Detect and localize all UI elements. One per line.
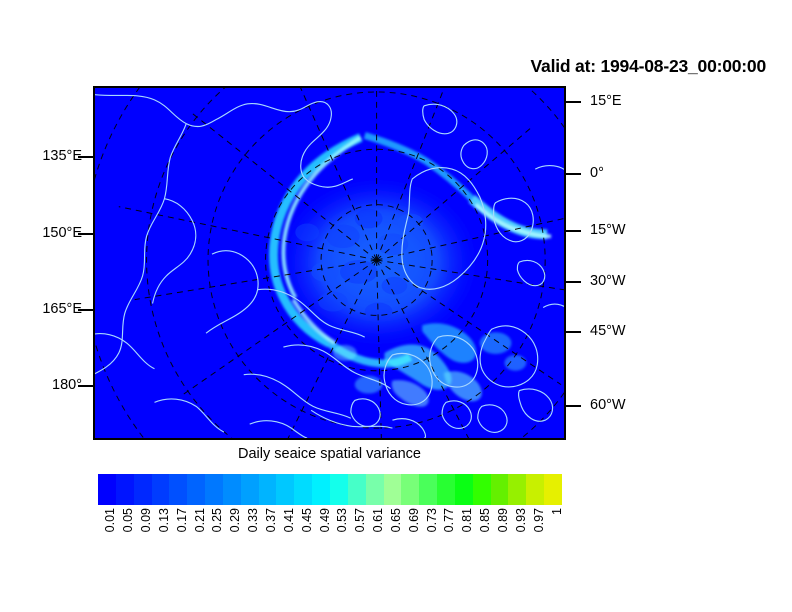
- left-axis-label-2: 165°E: [0, 302, 82, 317]
- map-canvas: [95, 88, 564, 438]
- colorbar-tick-label: 0.85: [478, 508, 492, 532]
- colorbar-tick-label: 0.97: [532, 508, 546, 532]
- colorbar-segment: [491, 474, 509, 505]
- right-axis-tick-1: [566, 173, 581, 175]
- colorbar-strip: [98, 474, 562, 505]
- left-axis-tick-3: [78, 385, 93, 387]
- colorbar-segment: [259, 474, 277, 505]
- colorbar-tick-label: 0.41: [282, 508, 296, 532]
- colorbar-labels: 0.010.050.090.130.170.210.250.290.330.37…: [98, 508, 562, 564]
- left-axis-label-3: 180°: [0, 378, 82, 393]
- colorbar-tick-label: 0.25: [210, 508, 224, 532]
- colorbar-segment: [544, 474, 562, 505]
- left-axis-label-1: 150°E: [0, 226, 82, 241]
- colorbar-tick-label: 0.49: [318, 508, 332, 532]
- colorbar-tick-label: 1: [550, 508, 564, 515]
- colorbar-tick-label: 0.29: [228, 508, 242, 532]
- colorbar-segment: [152, 474, 170, 505]
- colorbar-tick-label: 0.53: [335, 508, 349, 532]
- colorbar-tick-label: 0.61: [371, 508, 385, 532]
- colorbar-segment: [223, 474, 241, 505]
- right-axis-label-1: 0°: [590, 166, 604, 181]
- colorbar-tick-label: 0.13: [157, 508, 171, 532]
- colorbar-segment: [526, 474, 544, 505]
- left-axis-tick-2: [78, 309, 93, 311]
- colorbar-tick-label: 0.77: [442, 508, 456, 532]
- colorbar-tick-label: 0.65: [389, 508, 403, 532]
- right-axis-tick-3: [566, 281, 581, 283]
- colorbar-tick-label: 0.05: [121, 508, 135, 532]
- colorbar-tick-label: 0.09: [139, 508, 153, 532]
- colorbar-tick-label: 0.81: [460, 508, 474, 532]
- colorbar-segment: [169, 474, 187, 505]
- right-axis-tick-4: [566, 331, 581, 333]
- colorbar-tick-label: 0.01: [103, 508, 117, 532]
- colorbar-segment: [294, 474, 312, 505]
- colorbar-segment: [276, 474, 294, 505]
- colorbar-segment: [419, 474, 437, 505]
- right-axis-label-3: 30°W: [590, 274, 626, 289]
- right-axis-label-2: 15°W: [590, 223, 626, 238]
- colorbar-segment: [98, 474, 116, 505]
- colorbar-segment: [366, 474, 384, 505]
- right-axis-label-0: 15°E: [590, 94, 622, 109]
- colorbar-segment: [312, 474, 330, 505]
- colorbar-segment: [134, 474, 152, 505]
- colorbar-tick-label: 0.89: [496, 508, 510, 532]
- colorbar-segment: [116, 474, 134, 505]
- colorbar-segment: [330, 474, 348, 505]
- colorbar-segment: [205, 474, 223, 505]
- map-plot-area[interactable]: [93, 86, 566, 440]
- colorbar-tick-label: 0.33: [246, 508, 260, 532]
- page-title: Valid at: 1994-08-23_00:00:00: [456, 56, 766, 77]
- right-axis-tick-0: [566, 101, 581, 103]
- colorbar-segment: [473, 474, 491, 505]
- colorbar-segment: [384, 474, 402, 505]
- right-axis-label-5: 60°W: [590, 398, 626, 413]
- right-axis-tick-2: [566, 230, 581, 232]
- colorbar-tick-label: 0.17: [175, 508, 189, 532]
- left-axis-tick-0: [78, 156, 93, 158]
- colorbar-tick-label: 0.57: [353, 508, 367, 532]
- colorbar-segment: [401, 474, 419, 505]
- colorbar-segment: [241, 474, 259, 505]
- left-axis-tick-1: [78, 233, 93, 235]
- map-caption: Daily seaice spatial variance: [93, 446, 566, 462]
- colorbar-tick-label: 0.21: [193, 508, 207, 532]
- figure-root: Valid at: 1994-08-23_00:00:00 135°E 150°…: [0, 0, 792, 612]
- colorbar-segment: [455, 474, 473, 505]
- colorbar-tick-label: 0.45: [300, 508, 314, 532]
- left-axis-label-0: 135°E: [0, 149, 82, 164]
- right-axis-label-4: 45°W: [590, 324, 626, 339]
- colorbar-segment: [508, 474, 526, 505]
- colorbar-segment: [187, 474, 205, 505]
- colorbar-segment: [348, 474, 366, 505]
- colorbar-tick-label: 0.69: [407, 508, 421, 532]
- colorbar-tick-label: 0.73: [425, 508, 439, 532]
- colorbar-tick-label: 0.93: [514, 508, 528, 532]
- right-axis-tick-5: [566, 405, 581, 407]
- colorbar-segment: [437, 474, 455, 505]
- colorbar[interactable]: [98, 474, 562, 505]
- colorbar-tick-label: 0.37: [264, 508, 278, 532]
